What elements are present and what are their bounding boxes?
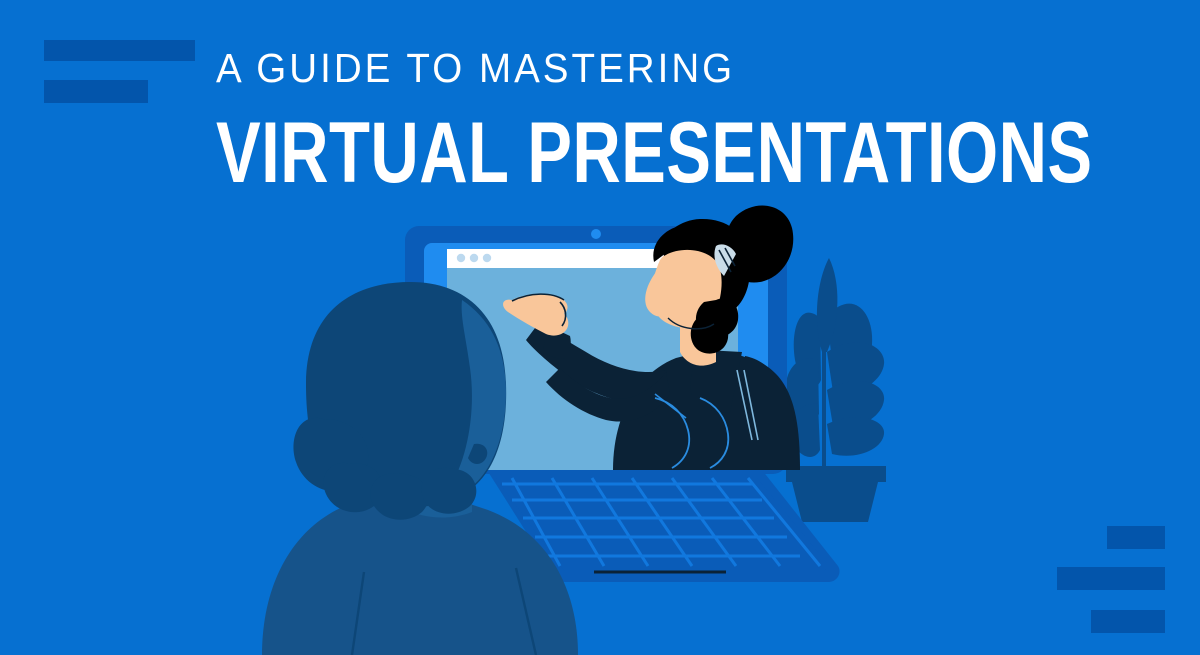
virtual-presentation-illustration <box>0 0 1200 655</box>
browser-dot-icon-2 <box>470 254 478 262</box>
potted-plant-icon <box>786 258 886 522</box>
browser-dot-icon-3 <box>483 254 491 262</box>
webcam-dot-icon <box>591 229 601 239</box>
main-headline: VIRTUAL PRESENTATIONS <box>216 110 1093 196</box>
browser-dot-icon-1 <box>457 254 465 262</box>
kicker-heading: A GUIDE TO MASTERING <box>216 48 735 89</box>
slide-canvas: A GUIDE TO MASTERING VIRTUAL PRESENTATIO… <box>0 0 1200 655</box>
